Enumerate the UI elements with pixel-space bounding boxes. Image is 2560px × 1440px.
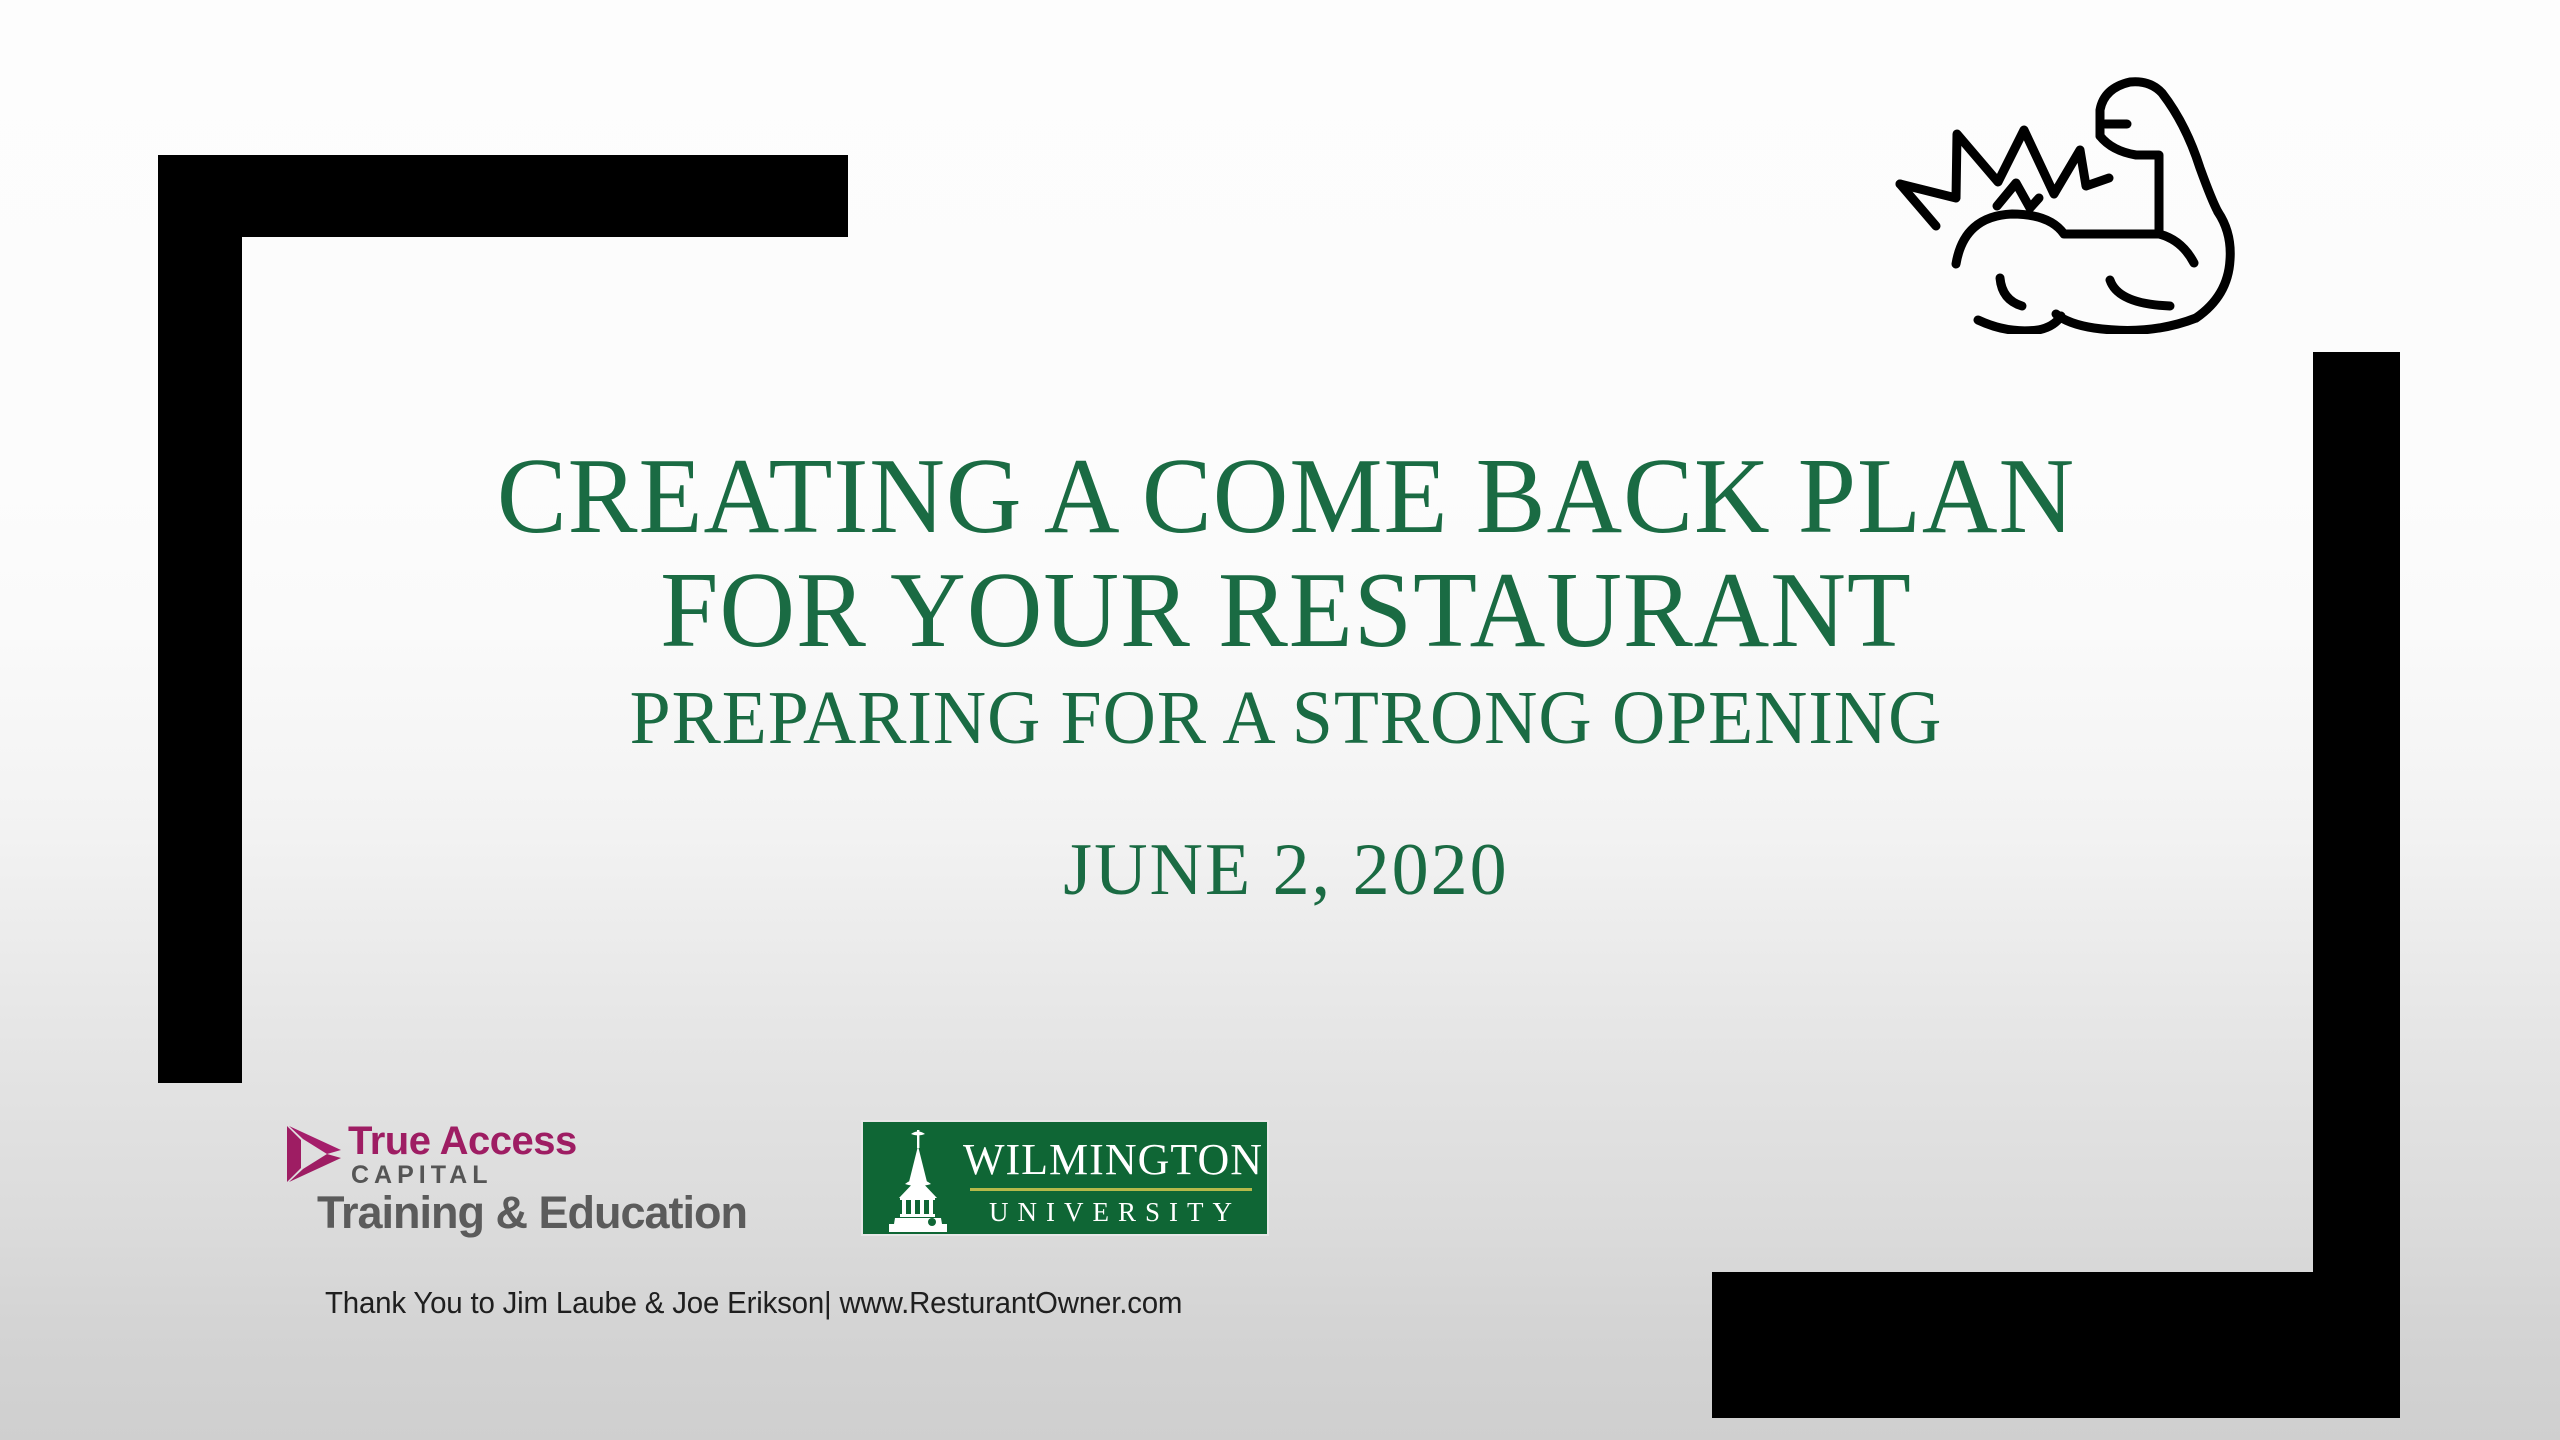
true-access-capital-word: CAPITAL (351, 1162, 492, 1189)
title-slide: CREATING A COME BACK PLAN FOR YOUR RESTA… (0, 0, 2560, 1440)
credit-attribution: Thank You to Jim Laube & Joe Erikson| ww… (325, 1285, 1182, 1321)
true-access-triangle-icon (283, 1124, 345, 1184)
wilmington-university-logo: WILMINGTON UNIVERSITY (861, 1120, 1269, 1236)
flexed-bicep-icon (1878, 38, 2264, 334)
subtitle: PREPARING FOR A STRONG OPENING (50, 675, 2522, 762)
steeple-tower-icon (875, 1126, 961, 1234)
title-block: CREATING A COME BACK PLAN FOR YOUR RESTA… (0, 440, 2560, 912)
true-access-name: True Access (348, 1120, 577, 1162)
corner-bracket-bottom-right-horizontal (1712, 1272, 2400, 1418)
title-line-1: CREATING A COME BACK PLAN (50, 440, 2522, 554)
corner-bracket-top-left-horizontal (158, 155, 848, 237)
title-line-2: FOR YOUR RESTAURANT (50, 554, 2522, 668)
wilmington-divider-rule (970, 1188, 1252, 1191)
wilmington-university-word: UNIVERSITY (963, 1197, 1259, 1227)
true-access-tagline: Training & Education (317, 1188, 747, 1238)
wilmington-wordmark: WILMINGTON UNIVERSITY (963, 1136, 1259, 1227)
wilmington-name: WILMINGTON (963, 1136, 1259, 1184)
true-access-capital-logo: True Access CAPITAL Training & Education (283, 1120, 743, 1245)
event-date: JUNE 2, 2020 (12, 830, 2560, 911)
